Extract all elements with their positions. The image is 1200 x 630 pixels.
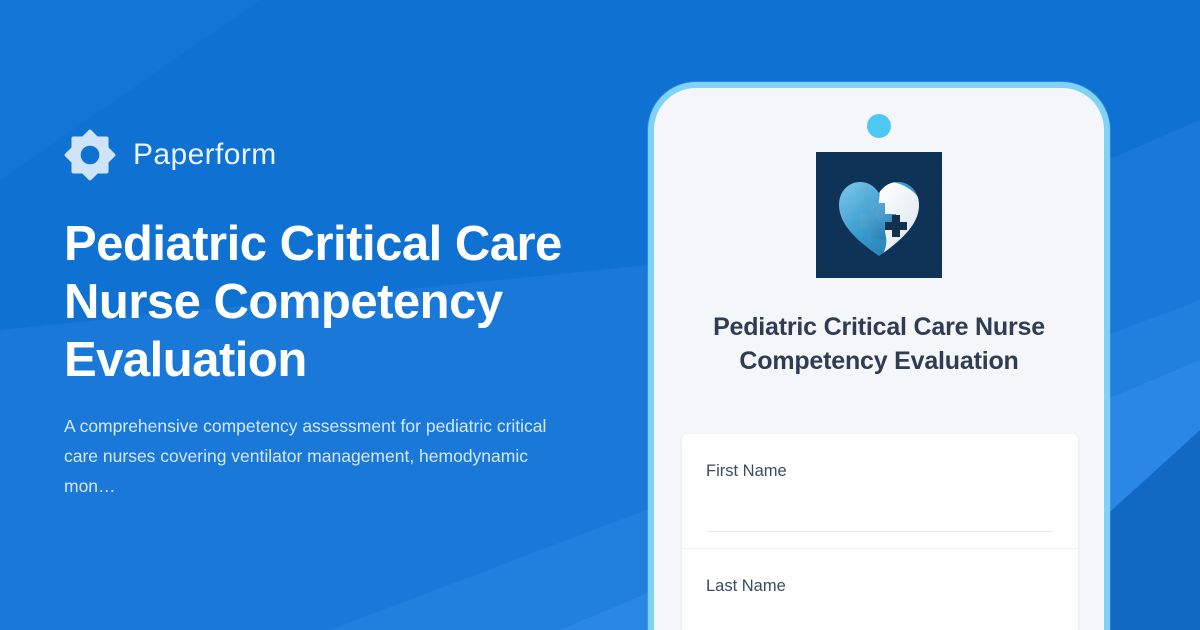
last-name-label: Last Name — [706, 575, 1054, 597]
page-title: Pediatric Critical Care Nurse Competency… — [64, 215, 624, 389]
hero-content: Paperform Pediatric Critical Care Nurse … — [64, 0, 664, 630]
form-title: Pediatric Critical Care Nurse Competency… — [684, 310, 1074, 378]
first-name-underline — [706, 531, 1054, 532]
first-name-field[interactable]: First Name — [682, 434, 1078, 548]
phone-mockup: Pediatric Critical Care Nurse Competency… — [648, 82, 1110, 630]
phone-screen: Pediatric Critical Care Nurse Competency… — [654, 88, 1104, 630]
paperform-star-logo-icon — [64, 129, 116, 181]
share-preview-card: Paperform Pediatric Critical Care Nurse … — [0, 0, 1200, 630]
last-name-field[interactable]: Last Name — [682, 548, 1078, 630]
brand-name: Paperform — [133, 140, 277, 170]
medical-heart-cross-logo-icon — [816, 152, 942, 278]
form-card: First Name Last Name — [682, 434, 1078, 630]
first-name-label: First Name — [706, 460, 1054, 482]
page-description: A comprehensive competency assessment fo… — [64, 411, 564, 501]
brand-lockup: Paperform — [64, 129, 664, 181]
camera-dot-icon — [867, 114, 891, 138]
